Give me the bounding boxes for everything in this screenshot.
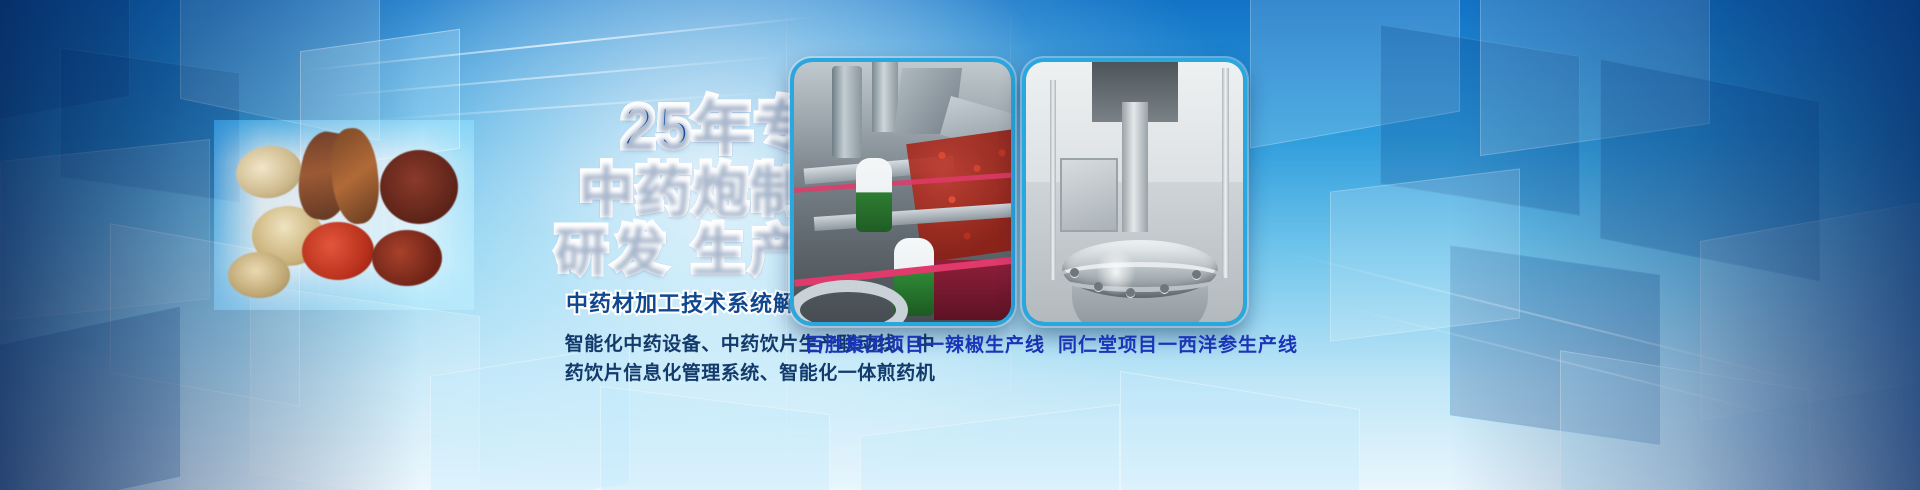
bg-shard [600, 386, 830, 490]
photo-detail [1222, 68, 1229, 278]
photo-detail [832, 66, 862, 158]
light-beam [300, 16, 817, 72]
photo-detail [922, 132, 1015, 262]
light-beam [1280, 250, 1882, 402]
herb-berry [302, 222, 374, 280]
project-photo-caption-1: 百胜集团项目一辣椒生产线 [805, 330, 1045, 357]
photo-detail [872, 62, 898, 132]
bg-shard [860, 404, 1120, 490]
herb-bark [380, 150, 458, 224]
photo-detail [1192, 270, 1201, 279]
description-line-2: 药饮片信息化管理系统、智能化一体煎药机 [540, 359, 960, 388]
right-vignette [1450, 0, 1920, 490]
bg-shard [1250, 0, 1460, 149]
bg-shard [1700, 199, 1920, 421]
bg-shard [0, 307, 180, 490]
bg-shard [0, 139, 210, 321]
photo-detail [1060, 158, 1118, 232]
photo-detail [1050, 80, 1056, 280]
bg-shard [1600, 59, 1820, 282]
photo-detail [856, 158, 892, 232]
bg-shard [1120, 371, 1360, 490]
project-photo-card-1[interactable] [790, 58, 1015, 326]
photo-detail [1096, 248, 1136, 296]
herb-berry [372, 230, 442, 286]
herb-slice [228, 252, 290, 298]
bg-shard [60, 47, 240, 202]
bg-shard [1330, 168, 1520, 341]
light-beam [1320, 300, 1903, 447]
photo-detail [1160, 284, 1169, 293]
photo-detail [1122, 102, 1148, 232]
project-photo-card-2[interactable] [1022, 58, 1247, 326]
bg-shard [0, 0, 130, 123]
promo-banner: 25年专注 中药炮制设备 研发 生产 销售 中药材加工技术系统解决方案服务商 智… [0, 0, 1920, 490]
light-beam [320, 55, 788, 98]
bg-shard [1380, 24, 1580, 216]
project-photo-caption-2: 同仁堂项目一西洋参生产线 [1058, 330, 1298, 357]
bg-shard [1480, 0, 1710, 156]
photo-detail [1070, 268, 1079, 277]
bg-shard [250, 284, 480, 490]
bg-shard [1560, 350, 1810, 490]
bg-shard [1450, 245, 1660, 445]
